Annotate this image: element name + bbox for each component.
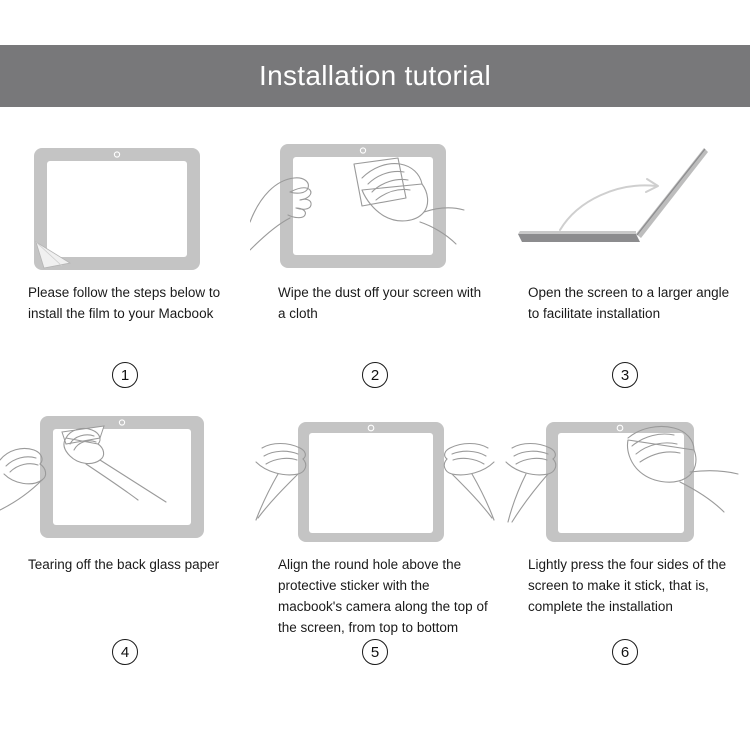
step-2-number: 2 [250, 362, 500, 388]
step-1-number: 1 [0, 362, 250, 388]
step-6-number: 6 [500, 639, 750, 665]
step-panel-5: Align the round hole above the protectiv… [250, 402, 500, 677]
step-3-illustration [500, 130, 750, 270]
step-1-caption: Please follow the steps below to install… [0, 282, 250, 324]
step-4-illustration [0, 402, 250, 542]
page-title: Installation tutorial [259, 60, 491, 92]
step-panel-6: Lightly press the four sides of the scre… [500, 402, 750, 677]
step-number-badge: 6 [612, 639, 638, 665]
step-6-caption: Lightly press the four sides of the scre… [500, 554, 750, 617]
step-panel-1: Please follow the steps below to install… [0, 130, 250, 402]
step-number-badge: 4 [112, 639, 138, 665]
steps-grid: Please follow the steps below to install… [0, 130, 750, 677]
step-3-number: 3 [500, 362, 750, 388]
step-panel-3: Open the screen to a larger angle to fac… [500, 130, 750, 402]
screen-with-peeling-film-corner-icon [0, 130, 250, 270]
step-2-illustration [250, 130, 500, 270]
hands-pressing-screen-icon [500, 402, 750, 542]
step-number-badge: 1 [112, 362, 138, 388]
step-5-illustration [250, 402, 500, 542]
step-4-caption: Tearing off the back glass paper [0, 554, 250, 575]
hand-peeling-back-paper-icon [0, 402, 250, 542]
step-4-number: 4 [0, 639, 250, 665]
step-5-caption: Align the round hole above the protectiv… [250, 554, 500, 638]
step-number-badge: 2 [362, 362, 388, 388]
step-number-badge: 3 [612, 362, 638, 388]
step-2-caption: Wipe the dust off your screen with a clo… [250, 282, 500, 324]
hand-wiping-screen-with-cloth-icon [250, 130, 500, 270]
step-3-caption: Open the screen to a larger angle to fac… [500, 282, 750, 324]
step-1-illustration [0, 130, 250, 270]
step-5-number: 5 [250, 639, 500, 665]
step-6-illustration [500, 402, 750, 542]
laptop-open-angle-arrow-icon [500, 130, 750, 270]
step-panel-4: Tearing off the back glass paper 4 [0, 402, 250, 677]
header-banner: Installation tutorial [0, 45, 750, 107]
two-hands-aligning-film-icon [250, 402, 500, 542]
step-panel-2: Wipe the dust off your screen with a clo… [250, 130, 500, 402]
step-number-badge: 5 [362, 639, 388, 665]
